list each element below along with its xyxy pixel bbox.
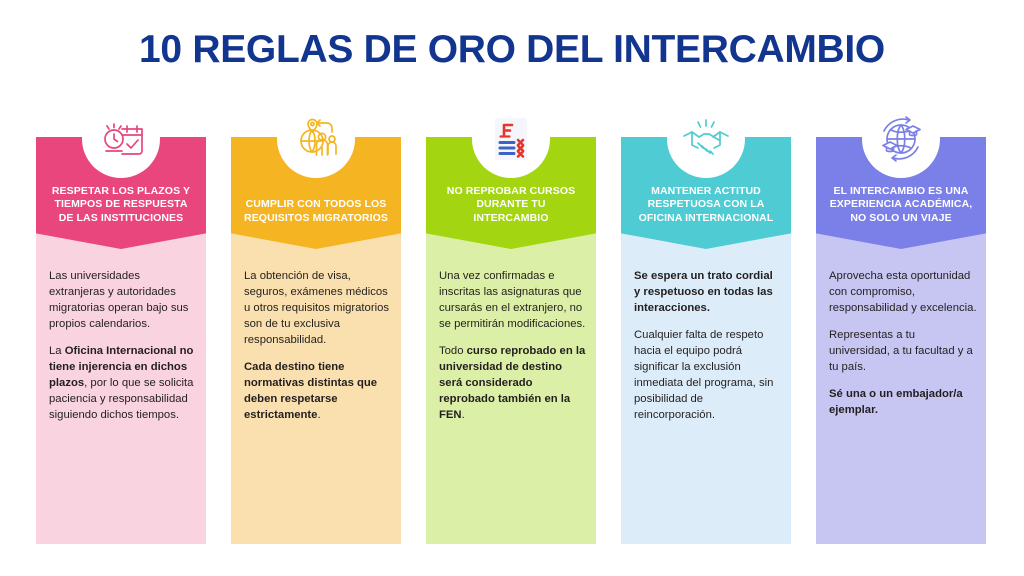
globe-pin-family-icon — [277, 100, 355, 178]
emphasis-text: Cada destino tiene normativas distintas … — [244, 361, 377, 421]
body-text: Las universidades extranjeras y autorida… — [49, 270, 188, 330]
rule-card-plazos: RESPETAR LOS PLAZOS Y TIEMPOS DE RESPUES… — [36, 100, 206, 544]
infographic-root: 10 REGLAS DE ORO DEL INTERCAMBIO RESPETA… — [0, 0, 1024, 576]
rule-paragraph: Una vez confirmadas e inscritas las asig… — [439, 268, 587, 332]
rule-card-actitud: MANTENER ACTITUD RESPETUOSA CON LA OFICI… — [621, 100, 791, 544]
rules-card-row: RESPETAR LOS PLAZOS Y TIEMPOS DE RESPUES… — [36, 100, 988, 546]
rule-card-migratorios: CUMPLIR CON TODOS LOS REQUISITOS MIGRATO… — [231, 100, 401, 544]
rule-card-reprobar: NO REPROBAR CURSOS DURANTE TU INTERCAMBI… — [426, 100, 596, 544]
rule-paragraph: Representas a tu universidad, a tu facul… — [829, 327, 977, 375]
page-title: 10 REGLAS DE ORO DEL INTERCAMBIO — [0, 28, 1024, 72]
rule-card-text: Las universidades extranjeras y autorida… — [49, 268, 197, 423]
rule-paragraph: Cualquier falta de respeto hacia el equi… — [634, 327, 782, 423]
rule-paragraph: Las universidades extranjeras y autorida… — [49, 268, 197, 332]
rule-card-heading: EL INTERCAMBIO ES UNA EXPERIENCIA ACADÉM… — [822, 185, 980, 225]
rule-card-heading: RESPETAR LOS PLAZOS Y TIEMPOS DE RESPUES… — [42, 185, 200, 225]
handshake-icon — [667, 100, 745, 178]
rule-paragraph: La obtención de visa, seguros, exámenes … — [244, 268, 392, 348]
body-text: Cualquier falta de respeto hacia el equi… — [634, 329, 773, 421]
emphasis-text: Se espera un trato cordial y respetuoso … — [634, 270, 773, 314]
rule-paragraph: Sé una o un embajador/a ejemplar. — [829, 386, 977, 418]
rule-card-text: Aprovecha esta oportunidad con compromis… — [829, 268, 977, 418]
body-text: Representas a tu universidad, a tu facul… — [829, 329, 973, 373]
body-text: Todo — [439, 345, 467, 357]
rule-paragraph: Todo curso reprobado en la universidad d… — [439, 343, 587, 423]
body-text: Aprovecha esta oportunidad con compromis… — [829, 270, 977, 314]
rule-card-heading: MANTENER ACTITUD RESPETUOSA CON LA OFICI… — [627, 185, 785, 225]
rule-card-heading: NO REPROBAR CURSOS DURANTE TU INTERCAMBI… — [432, 185, 590, 225]
rule-card-heading: CUMPLIR CON TODOS LOS REQUISITOS MIGRATO… — [237, 198, 395, 225]
rule-paragraph: La Oficina Internacional no tiene injere… — [49, 343, 197, 423]
rule-card-text: Se espera un trato cordial y respetuoso … — [634, 268, 782, 423]
failed-grade-report-icon — [472, 100, 550, 178]
rule-paragraph: Cada destino tiene normativas distintas … — [244, 359, 392, 423]
clock-calendar-icon — [82, 100, 160, 178]
rule-card-text: Una vez confirmadas e inscritas las asig… — [439, 268, 587, 423]
rule-card-academica: EL INTERCAMBIO ES UNA EXPERIENCIA ACADÉM… — [816, 100, 986, 544]
body-text: La obtención de visa, seguros, exámenes … — [244, 270, 389, 346]
body-text: . — [317, 409, 320, 421]
body-text: . — [462, 409, 465, 421]
rule-card-text: La obtención de visa, seguros, exámenes … — [244, 268, 392, 423]
emphasis-text: Sé una o un embajador/a ejemplar. — [829, 388, 963, 416]
body-text: La — [49, 345, 65, 357]
globe-graduation-icon — [862, 100, 940, 178]
rule-paragraph: Se espera un trato cordial y respetuoso … — [634, 268, 782, 316]
body-text: Una vez confirmadas e inscritas las asig… — [439, 270, 585, 330]
rule-paragraph: Aprovecha esta oportunidad con compromis… — [829, 268, 977, 316]
